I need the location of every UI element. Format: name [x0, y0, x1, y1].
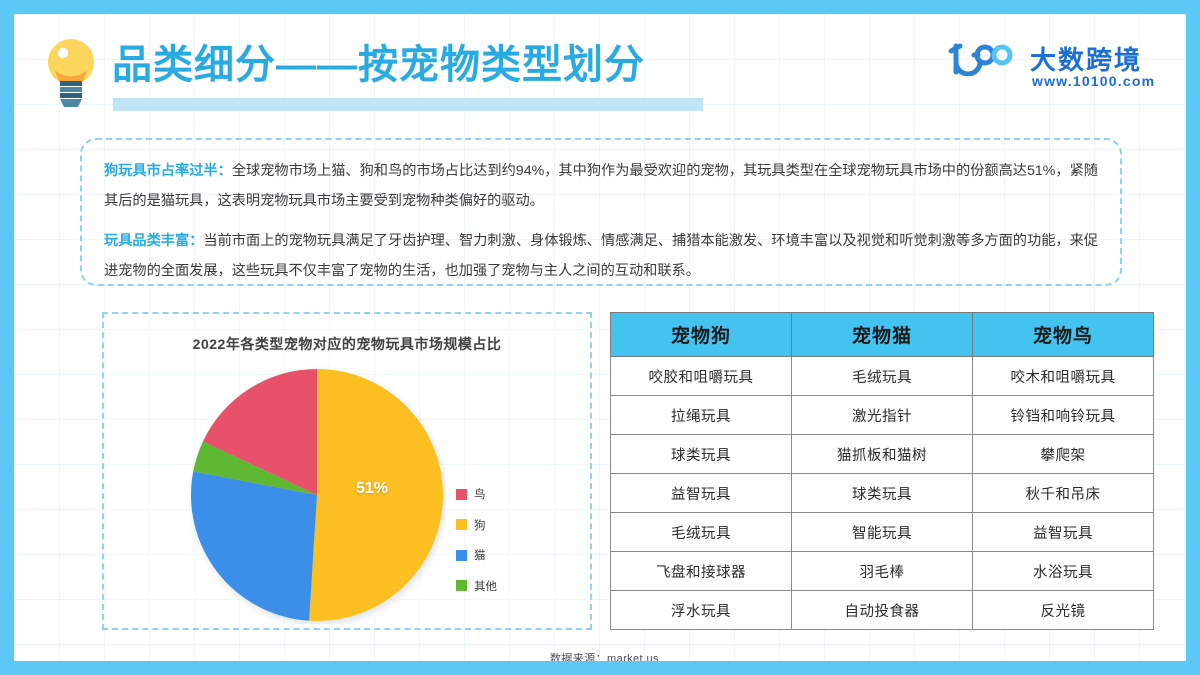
summary-lead-2: 玩具品类丰富： [104, 233, 203, 249]
legend-label: 鸟 [474, 486, 486, 502]
summary-lead-1: 狗玩具市占率过半： [104, 163, 232, 179]
title-underline-bar [113, 98, 703, 111]
table-cell: 猫抓板和猫树 [792, 435, 973, 474]
summary-body-2: 当前市面上的宠物玩具满足了牙齿护理、智力刺激、身体锻炼、情感满足、捕猎本能激发、… [104, 233, 1098, 279]
legend-label: 其他 [474, 578, 497, 594]
legend-swatch-icon [456, 489, 467, 500]
table-cell: 秋千和吊床 [973, 474, 1154, 513]
table-cell: 羽毛棒 [792, 552, 973, 591]
table-cell: 浮水玩具 [611, 591, 792, 630]
table-cell: 益智玩具 [973, 513, 1154, 552]
pet-toy-table-wrapper: 宠物狗 宠物猫 宠物鸟 咬胶和咀嚼玩具毛绒玩具咬木和咀嚼玩具拉绳玩具激光指针铃铛… [610, 312, 1154, 630]
table-cell: 水浴玩具 [973, 552, 1154, 591]
table-cell: 咬木和咀嚼玩具 [973, 357, 1154, 396]
legend-swatch-icon [456, 519, 467, 530]
legend-item-狗: 狗 [456, 517, 497, 533]
table-row: 咬胶和咀嚼玩具毛绒玩具咬木和咀嚼玩具 [611, 357, 1154, 396]
table-header-row: 宠物狗 宠物猫 宠物鸟 [611, 313, 1154, 357]
table-row: 拉绳玩具激光指针铃铛和响铃玩具 [611, 396, 1154, 435]
pie-chart: 51% [188, 366, 446, 624]
pie-slice-label-dog: 51% [356, 480, 388, 498]
table-cell: 毛绒玩具 [611, 513, 792, 552]
table-cell: 反光镜 [973, 591, 1154, 630]
slide-canvas: 品类细分——按宠物类型划分 大数跨境 www.10100.com 狗玩具市占率过… [14, 14, 1186, 661]
table-row: 浮水玩具自动投食器反光镜 [611, 591, 1154, 630]
table-cell: 飞盘和接球器 [611, 552, 792, 591]
table-cell: 攀爬架 [973, 435, 1154, 474]
table-cell: 拉绳玩具 [611, 396, 792, 435]
legend-swatch-icon [456, 580, 467, 591]
legend-label: 狗 [474, 517, 486, 533]
brand-logo[interactable]: 大数跨境 www.10100.com [948, 40, 1164, 98]
table-cell: 自动投食器 [792, 591, 973, 630]
chart-title: 2022年各类型宠物对应的宠物玩具市场规模占比 [104, 334, 590, 354]
slide-header: 品类细分——按宠物类型划分 大数跨境 www.10100.com [14, 14, 1186, 114]
summary-panel: 狗玩具市占率过半：全球宠物市场上猫、狗和鸟的市场占比达到约94%，其中狗作为最受… [80, 138, 1122, 286]
page-title: 品类细分——按宠物类型划分 [112, 40, 645, 90]
page-title-text: 品类细分——按宠物类型划分 [112, 40, 645, 90]
table-cell: 球类玩具 [792, 474, 973, 513]
table-cell: 激光指针 [792, 396, 973, 435]
table-cell: 铃铛和响铃玩具 [973, 396, 1154, 435]
legend-item-猫: 猫 [456, 547, 497, 563]
table-cell: 益智玩具 [611, 474, 792, 513]
table-header-cat: 宠物猫 [792, 313, 973, 357]
table-header-bird: 宠物鸟 [973, 313, 1154, 357]
legend-item-其他: 其他 [456, 578, 497, 594]
chart-legend: 鸟狗猫其他 [456, 486, 497, 608]
summary-paragraph-1: 狗玩具市占率过半：全球宠物市场上猫、狗和鸟的市场占比达到约94%，其中狗作为最受… [104, 156, 1098, 216]
pet-toy-table: 宠物狗 宠物猫 宠物鸟 咬胶和咀嚼玩具毛绒玩具咬木和咀嚼玩具拉绳玩具激光指针铃铛… [610, 312, 1154, 630]
table-row: 毛绒玩具智能玩具益智玩具 [611, 513, 1154, 552]
legend-item-鸟: 鸟 [456, 486, 497, 502]
table-cell: 毛绒玩具 [792, 357, 973, 396]
summary-body-1: 全球宠物市场上猫、狗和鸟的市场占比达到约94%，其中狗作为最受欢迎的宠物，其玩具… [104, 163, 1098, 209]
table-cell: 智能玩具 [792, 513, 973, 552]
pie-svg [188, 366, 446, 624]
brand-name-cn: 大数跨境 [1030, 40, 1142, 77]
table-row: 球类玩具猫抓板和猫树攀爬架 [611, 435, 1154, 474]
table-cell: 咬胶和咀嚼玩具 [611, 357, 792, 396]
table-row: 飞盘和接球器羽毛棒水浴玩具 [611, 552, 1154, 591]
table-cell: 球类玩具 [611, 435, 792, 474]
table-row: 益智玩具球类玩具秋千和吊床 [611, 474, 1154, 513]
pie-chart-panel: 2022年各类型宠物对应的宠物玩具市场规模占比 51% 鸟狗猫其他 [102, 312, 592, 630]
10100-logo-mark-icon [948, 42, 1020, 76]
summary-paragraph-2: 玩具品类丰富：当前市面上的宠物玩具满足了牙齿护理、智力刺激、身体锻炼、情感满足、… [104, 226, 1098, 286]
data-source-note: 数据来源：market.us [550, 650, 659, 661]
legend-swatch-icon [456, 550, 467, 561]
brand-url: www.10100.com [1032, 73, 1155, 89]
legend-label: 猫 [474, 547, 486, 563]
table-header-dog: 宠物狗 [611, 313, 792, 357]
pie-slice-猫 [191, 471, 317, 620]
lightbulb-icon [43, 36, 99, 108]
